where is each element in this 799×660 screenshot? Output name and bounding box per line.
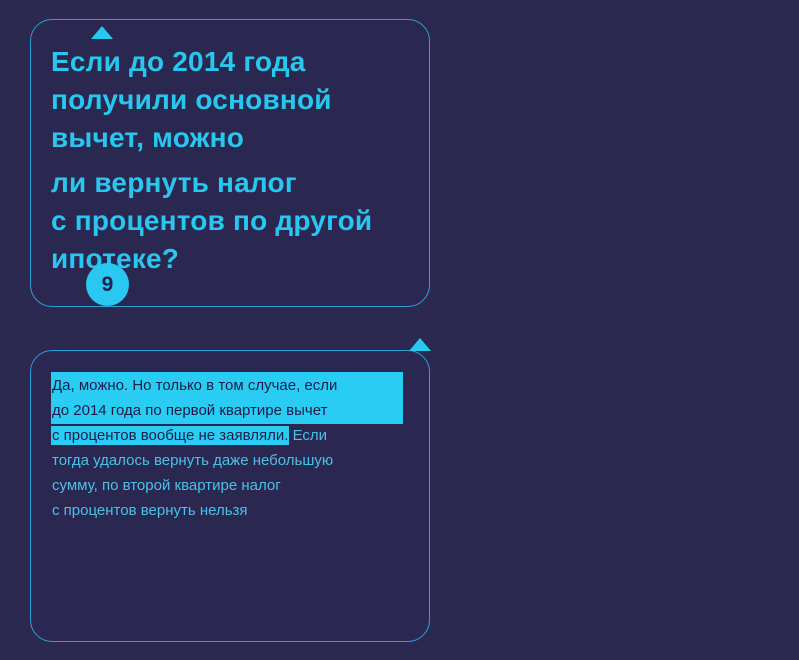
answer-highlighted-line[interactable]: до 2014 года по первой квартире вычет: [52, 398, 402, 423]
answer-text[interactable]: Да, можно. Но только в том случае, еслид…: [52, 373, 402, 523]
question-title-line: Если до 2014 года: [51, 43, 411, 81]
question-title: Если до 2014 года получили основной выче…: [51, 43, 411, 278]
answer-card-pointer-icon: [409, 338, 431, 351]
question-card-pointer-icon: [91, 26, 113, 39]
question-title-line: с процентов по другой: [51, 202, 411, 240]
page-canvas: Если до 2014 года получили основной выче…: [0, 0, 799, 660]
answer-plain-line: сумму, по второй квартире налог: [52, 473, 402, 498]
answer-highlighted-line[interactable]: с процентов вообще не заявляли.: [52, 427, 288, 444]
question-title-line: вычет, можно: [51, 119, 411, 157]
answer-plain-line: с процентов вернуть нельзя: [52, 498, 402, 523]
answer-card[interactable]: Да, можно. Но только в том случае, еслид…: [30, 350, 430, 642]
question-number-badge: 9: [86, 263, 129, 306]
answer-plain-line: тогда удалось вернуть даже небольшую: [52, 448, 402, 473]
answer-highlighted-line[interactable]: Да, можно. Но только в том случае, если: [52, 373, 402, 398]
question-title-line: получили основной: [51, 81, 411, 119]
question-card[interactable]: Если до 2014 года получили основной выче…: [30, 19, 430, 307]
answer-plain-line: Если: [293, 427, 327, 444]
question-title-line: ли вернуть налог: [51, 164, 411, 202]
